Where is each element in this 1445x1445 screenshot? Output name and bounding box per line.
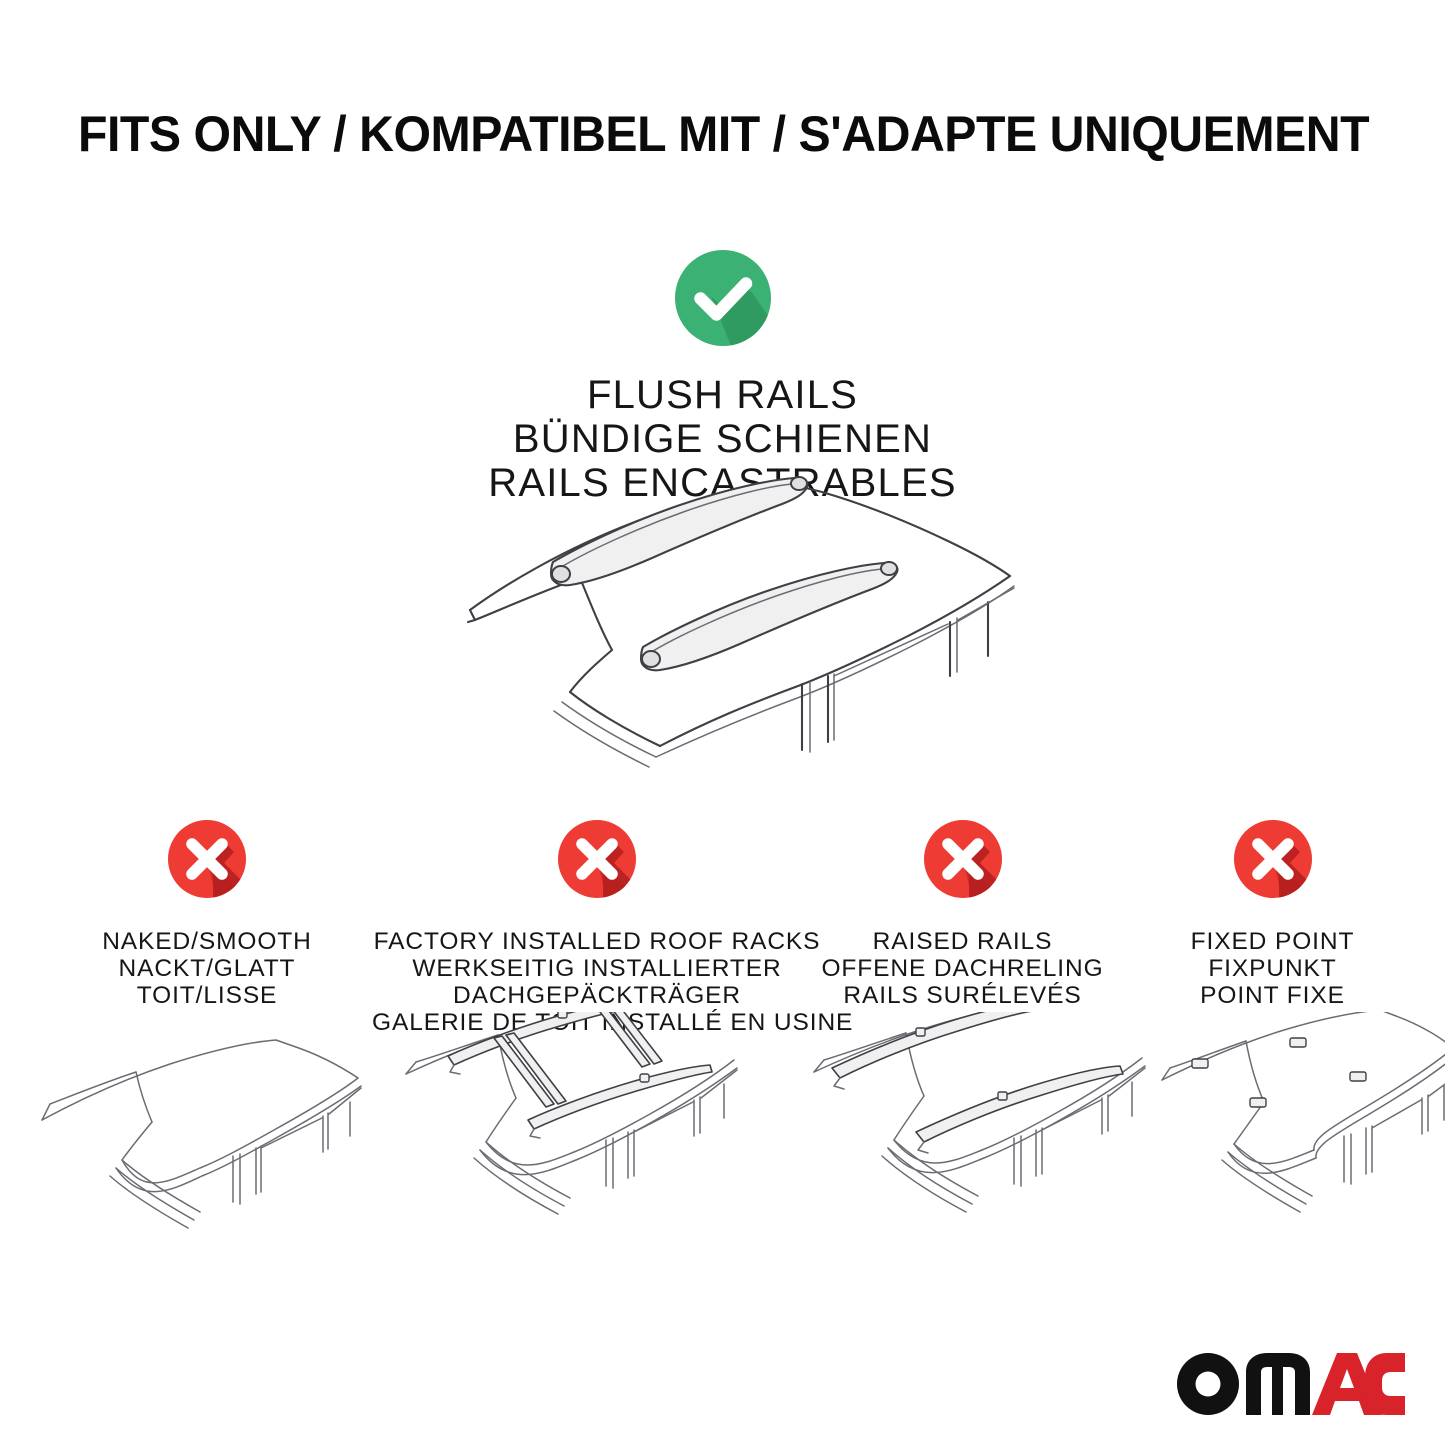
red-x-circle-icon (558, 820, 636, 898)
red-x-circle-icon (924, 820, 1002, 898)
incompatible-item-factory-racks: FACTORY INSTALLED ROOF RACKS WERKSEITIG … (372, 820, 822, 1036)
incompatible-label-line: DACHGEPÄCKTRÄGER (372, 982, 822, 1009)
incompatible-item-raised-rails: RAISED RAILS OFFENE DACHRELING RAILS SUR… (820, 820, 1105, 1009)
compatible-label-en: FLUSH RAILS (0, 373, 1445, 417)
incompatible-label-line: FACTORY INSTALLED ROOF RACKS (372, 928, 822, 955)
red-x-circle-icon (168, 820, 246, 898)
incompatible-label-line: RAILS SURÉLEVÉS (820, 982, 1105, 1009)
car-roof-raised-rails-illustration (808, 1012, 1158, 1240)
incompatible-labels: RAISED RAILS OFFENE DACHRELING RAILS SUR… (820, 928, 1105, 1009)
car-roof-factory-racks-illustration (398, 1012, 748, 1240)
logo-letter-m (1246, 1353, 1310, 1415)
incompatible-label-line: RAISED RAILS (820, 928, 1105, 955)
incompatible-label-line: OFFENE DACHRELING (820, 955, 1105, 982)
logo-letter-o (1177, 1353, 1239, 1415)
incompatible-label-line: TOIT/LISSE (48, 982, 366, 1009)
incompatible-label-line: WERKSEITIG INSTALLIERTER (372, 955, 822, 982)
green-check-circle-icon (675, 250, 771, 346)
logo-letter-c (1365, 1353, 1405, 1415)
incompatible-labels: NAKED/SMOOTH NACKT/GLATT TOIT/LISSE (48, 928, 366, 1009)
incompatible-labels: FIXED POINT FIXPUNKT POINT FIXE (1140, 928, 1405, 1009)
compatibility-infographic: FITS ONLY / KOMPATIBEL MIT / S'ADAPTE UN… (0, 0, 1445, 1445)
compatible-label-de: BÜNDIGE SCHIENEN (0, 417, 1445, 461)
compatible-section: FLUSH RAILS BÜNDIGE SCHIENEN RAILS ENCAS… (0, 250, 1445, 505)
incompatible-item-fixed-point: FIXED POINT FIXPUNKT POINT FIXE (1140, 820, 1405, 1009)
red-x-circle-icon (1234, 820, 1312, 898)
incompatible-label-line: NAKED/SMOOTH (48, 928, 366, 955)
car-roof-flush-rails-illustration (430, 470, 1030, 780)
car-roof-fixed-point-illustration (1158, 1012, 1445, 1240)
incompatible-label-line: NACKT/GLATT (48, 955, 366, 982)
omac-logo (1175, 1339, 1405, 1425)
car-roof-naked-smooth-illustration (28, 1024, 373, 1239)
incompatible-item-naked-smooth: NAKED/SMOOTH NACKT/GLATT TOIT/LISSE (48, 820, 366, 1009)
page-title: FITS ONLY / KOMPATIBEL MIT / S'ADAPTE UN… (78, 104, 1333, 164)
incompatible-label-line: FIXED POINT (1140, 928, 1405, 955)
incompatible-label-line: FIXPUNKT (1140, 955, 1405, 982)
incompatible-label-line: POINT FIXE (1140, 982, 1405, 1009)
